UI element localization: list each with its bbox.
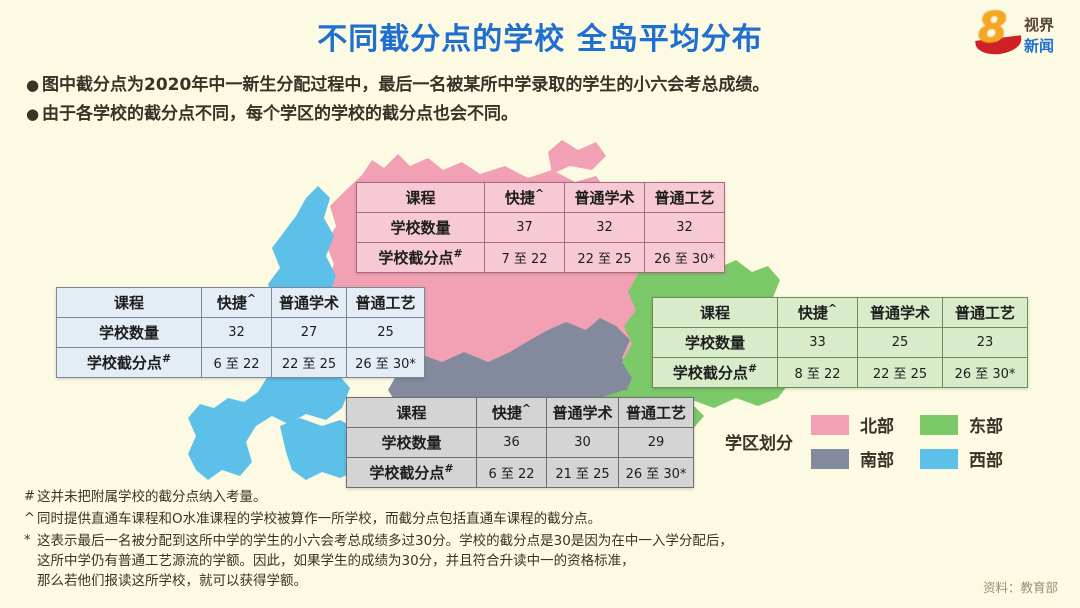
row-label-cutoff: 学校截分点# (653, 358, 778, 388)
legend-label-south: 南部 (860, 446, 894, 471)
logo-number: 8 (978, 6, 1007, 50)
legend-swatch-north (811, 415, 849, 435)
footnote-marker-asterisk: * (24, 531, 37, 551)
legend-label-east: 东部 (969, 412, 1003, 437)
cell-count-express: 36 (477, 428, 547, 458)
table-row: 学校截分点# 7 至 22 22 至 25 26 至 30* (357, 243, 725, 273)
header-course: 课程 (653, 298, 778, 328)
row-label-school-count: 学校数量 (57, 318, 202, 348)
legend-items: 北部 东部 南部 西部 (811, 412, 1003, 471)
map-region-north-spike (548, 140, 606, 174)
table-row: 学校数量 37 32 32 (357, 213, 725, 243)
bullet-dot-icon: ● (26, 72, 42, 98)
header-normal-academic: 普通学术 (272, 288, 347, 318)
cell-count-normal-academic: 30 (547, 428, 619, 458)
cell-cutoff-normal-technical: 26 至 30* (347, 348, 425, 378)
header-express: 快捷^ (477, 398, 547, 428)
logo-text-line2: 新闻 (1024, 35, 1054, 56)
legend-swatch-south (811, 449, 849, 469)
cell-cutoff-normal-technical: 26 至 30* (645, 243, 725, 273)
source-credit: 资料：教育部 (983, 577, 1058, 596)
cell-count-normal-technical: 23 (943, 328, 1028, 358)
footnote-list: # 这并未把附属学校的截分点纳入考量。 ^ 同时提供直通车课程和O水准课程的学校… (24, 487, 944, 593)
header-normal-technical: 普通工艺 (347, 288, 425, 318)
table-north-zone: 课程 快捷^ 普通学术 普通工艺 学校数量 37 32 32 学校截分点# 7 … (356, 182, 725, 273)
table-row: 学校截分点# 8 至 22 22 至 25 26 至 30* (653, 358, 1028, 388)
bullet-text: 由于各学校的截分点不同，每个学区的学校的截分点也会不同。 (42, 101, 518, 127)
legend-item-east: 东部 (920, 412, 1003, 437)
legend-item-west: 西部 (920, 446, 1003, 471)
cell-cutoff-normal-academic: 22 至 25 (565, 243, 645, 273)
header-express: 快捷^ (202, 288, 272, 318)
row-label-school-count: 学校数量 (347, 428, 477, 458)
map-legend: 学区划分 北部 东部 南部 西部 (725, 412, 1003, 471)
cell-cutoff-normal-academic: 22 至 25 (272, 348, 347, 378)
header-course: 课程 (357, 183, 485, 213)
cell-cutoff-express: 6 至 22 (202, 348, 272, 378)
footnote-caret: ^ 同时提供直通车课程和O水准课程的学校被算作一所学校，而截分点包括直通车课程的… (24, 509, 944, 529)
table-row: 课程 快捷^ 普通学术 普通工艺 (347, 398, 694, 428)
bullet-list: ● 图中截分点为2020年中一新生分配过程中，最后一名被某所中学录取的学生的小六… (26, 72, 1056, 130)
row-label-cutoff: 学校截分点# (357, 243, 485, 273)
legend-label-north: 北部 (860, 412, 894, 437)
row-label-cutoff: 学校截分点# (347, 458, 477, 488)
cell-cutoff-express: 8 至 22 (778, 358, 858, 388)
bullet-dot-icon: ● (26, 101, 42, 127)
header-normal-academic: 普通学术 (858, 298, 943, 328)
table-row: 课程 快捷^ 普通学术 普通工艺 (653, 298, 1028, 328)
cell-count-normal-academic: 32 (565, 213, 645, 243)
legend-item-south: 南部 (811, 446, 894, 471)
cell-count-express: 37 (485, 213, 565, 243)
cell-count-normal-technical: 29 (619, 428, 694, 458)
footnote-text: 这并未把附属学校的截分点纳入考量。 (37, 487, 944, 507)
bullet-text: 图中截分点为2020年中一新生分配过程中，最后一名被某所中学录取的学生的小六会考… (42, 72, 769, 98)
cell-count-express: 32 (202, 318, 272, 348)
cell-cutoff-express: 6 至 22 (477, 458, 547, 488)
table-east-zone: 课程 快捷^ 普通学术 普通工艺 学校数量 33 25 23 学校截分点# 8 … (652, 297, 1028, 388)
footnote-text: 这表示最后一名被分配到这所中学的学生的小六会考总成绩多过30分。学校的截分点是3… (37, 531, 944, 591)
header-course: 课程 (57, 288, 202, 318)
cell-cutoff-normal-academic: 22 至 25 (858, 358, 943, 388)
legend-swatch-west (920, 449, 958, 469)
table-row: 学校截分点# 6 至 22 22 至 25 26 至 30* (57, 348, 425, 378)
table-row: 课程 快捷^ 普通学术 普通工艺 (57, 288, 425, 318)
header-normal-academic: 普通学术 (565, 183, 645, 213)
cell-cutoff-normal-technical: 26 至 30* (943, 358, 1028, 388)
cell-cutoff-normal-academic: 21 至 25 (547, 458, 619, 488)
cell-cutoff-normal-technical: 26 至 30* (619, 458, 694, 488)
infographic-canvas: 不同截分点的学校 全岛平均分布 8 视界 新闻 ● 图中截分点为2020年中一新… (0, 0, 1080, 608)
channel-8-news-logo: 8 视界 新闻 (976, 6, 1072, 64)
logo-text-line1: 视界 (1024, 14, 1054, 35)
legend-title: 学区划分 (725, 429, 793, 454)
table-row: 学校数量 33 25 23 (653, 328, 1028, 358)
header-normal-technical: 普通工艺 (943, 298, 1028, 328)
header-normal-technical: 普通工艺 (619, 398, 694, 428)
cell-count-express: 33 (778, 328, 858, 358)
cell-count-normal-technical: 32 (645, 213, 725, 243)
header-express: 快捷^ (485, 183, 565, 213)
cell-cutoff-express: 7 至 22 (485, 243, 565, 273)
page-title: 不同截分点的学校 全岛平均分布 (0, 14, 1080, 58)
row-label-school-count: 学校数量 (357, 213, 485, 243)
table-row: 学校数量 36 30 29 (347, 428, 694, 458)
table-south-zone: 课程 快捷^ 普通学术 普通工艺 学校数量 36 30 29 学校截分点# 6 … (346, 397, 694, 488)
legend-item-north: 北部 (811, 412, 894, 437)
table-west-zone: 课程 快捷^ 普通学术 普通工艺 学校数量 32 27 25 学校截分点# 6 … (56, 287, 425, 378)
footnote-asterisk: * 这表示最后一名被分配到这所中学的学生的小六会考总成绩多过30分。学校的截分点… (24, 531, 944, 591)
row-label-cutoff: 学校截分点# (57, 348, 202, 378)
cell-count-normal-academic: 25 (858, 328, 943, 358)
table-row: 学校数量 32 27 25 (57, 318, 425, 348)
header-normal-academic: 普通学术 (547, 398, 619, 428)
cell-count-normal-technical: 25 (347, 318, 425, 348)
header-express: 快捷^ (778, 298, 858, 328)
legend-label-west: 西部 (969, 446, 1003, 471)
legend-swatch-east (920, 415, 958, 435)
footnote-marker-caret: ^ (24, 509, 37, 529)
bullet-item: ● 图中截分点为2020年中一新生分配过程中，最后一名被某所中学录取的学生的小六… (26, 72, 1056, 98)
header-normal-technical: 普通工艺 (645, 183, 725, 213)
table-row: 学校截分点# 6 至 22 21 至 25 26 至 30* (347, 458, 694, 488)
table-row: 课程 快捷^ 普通学术 普通工艺 (357, 183, 725, 213)
footnote-text: 同时提供直通车课程和O水准课程的学校被算作一所学校，而截分点包括直通车课程的截分… (37, 509, 944, 529)
bullet-item: ● 由于各学校的截分点不同，每个学区的学校的截分点也会不同。 (26, 101, 1056, 127)
header-course: 课程 (347, 398, 477, 428)
footnote-hash: # 这并未把附属学校的截分点纳入考量。 (24, 487, 944, 507)
row-label-school-count: 学校数量 (653, 328, 778, 358)
footnote-marker-hash: # (24, 487, 37, 507)
cell-count-normal-academic: 27 (272, 318, 347, 348)
